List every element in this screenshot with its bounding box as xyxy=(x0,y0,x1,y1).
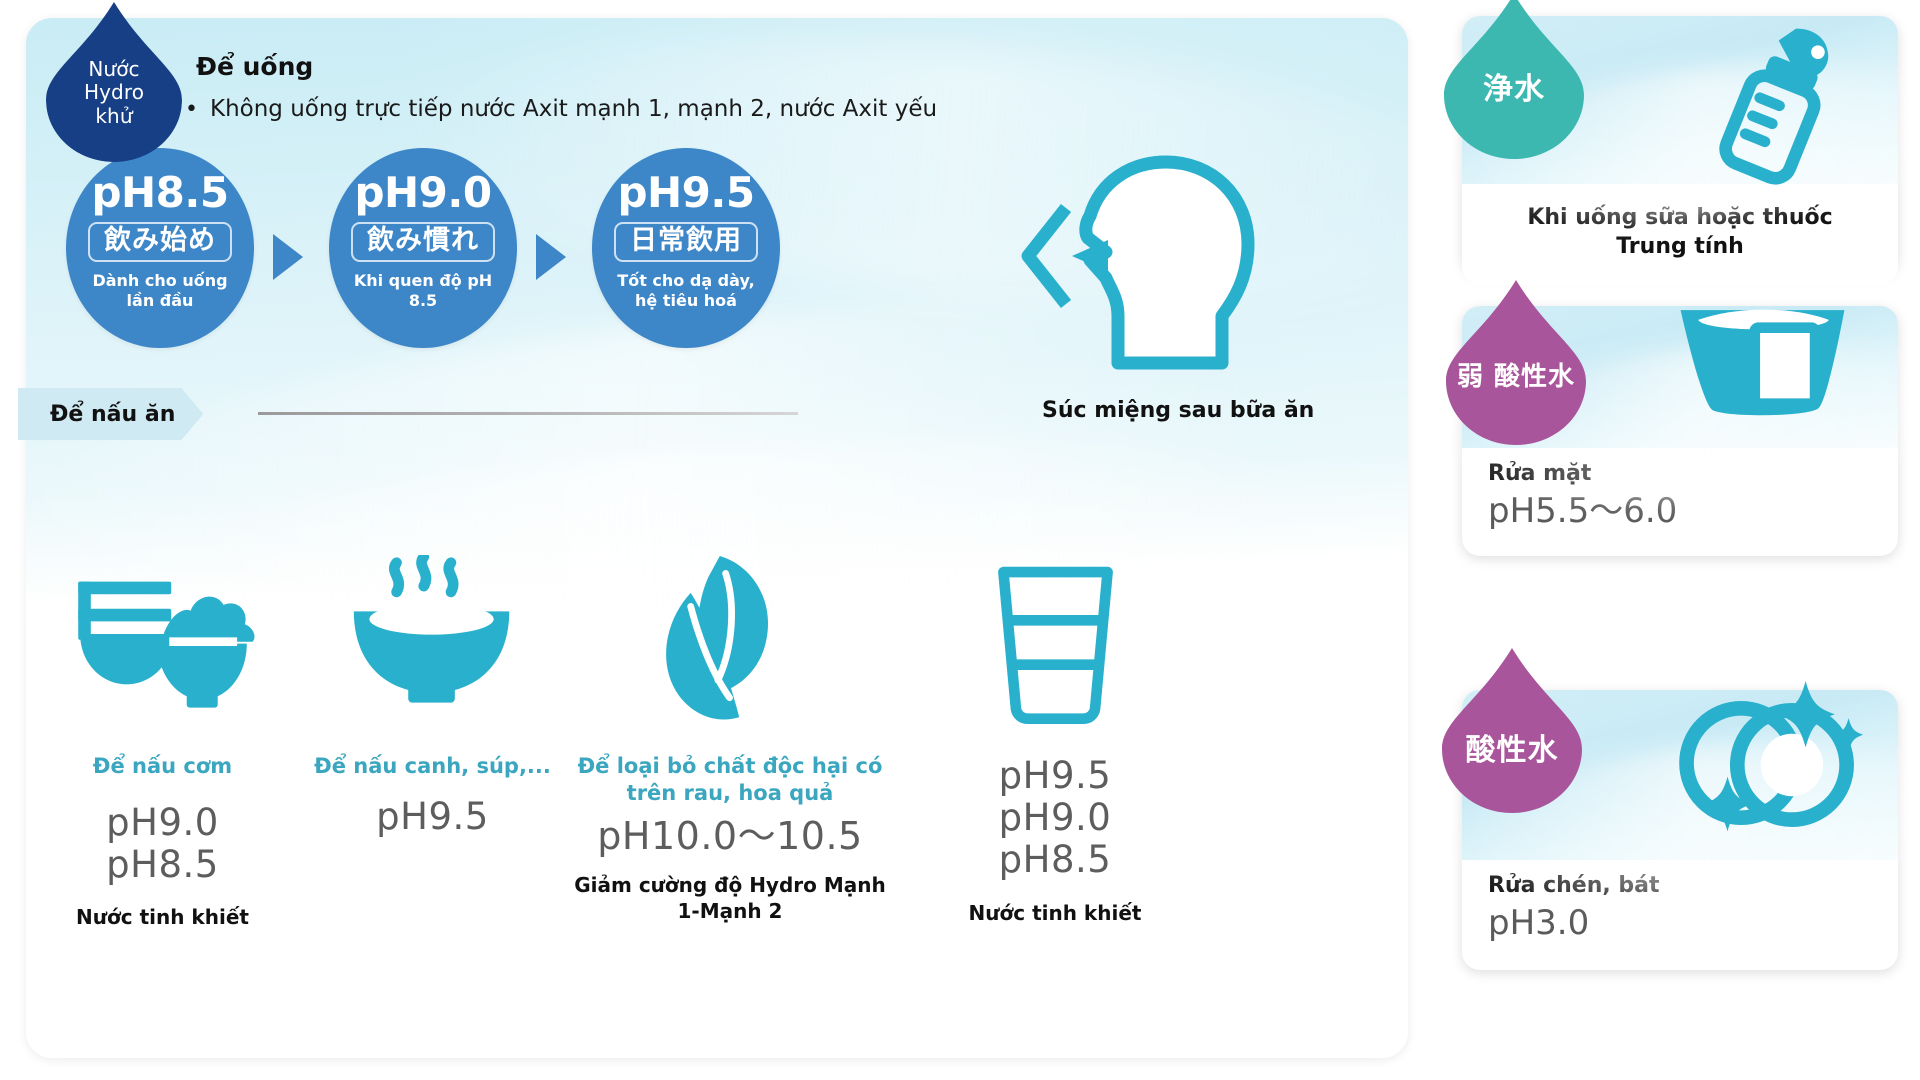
card-drop-label: 弱 酸性水 xyxy=(1457,333,1575,392)
use-label: Để nấu canh, súp,... xyxy=(300,753,565,780)
card-drop-label: 浄水 xyxy=(1483,47,1545,107)
card-artwork: 酸性水 xyxy=(1462,690,1898,860)
ph-step-circle: pH9.5 日常飲用 Tốt cho dạ dày, hệ tiêu hoá xyxy=(592,148,780,348)
ph-sub-label: Tốt cho dạ dày, hệ tiêu hoá xyxy=(606,271,766,311)
drink-section-bullet: • Không uống trực tiếp nước Axit mạnh 1,… xyxy=(185,96,937,125)
use-note: Giảm cường độ Hydro Mạnh 1-Mạnh 2 xyxy=(565,872,895,924)
rinse-mouth-label: Súc miệng sau bữa ăn xyxy=(1042,398,1314,423)
ph-sub-label: Dành cho uống lần đầu xyxy=(80,271,240,311)
wash-basin-towel-icon xyxy=(1665,280,1860,432)
acidic-water-drop-badge: 酸性水 xyxy=(1442,648,1582,813)
ph-step-circle: pH9.0 飲み慣れ Khi quen độ pH 8.5 xyxy=(329,148,517,348)
ph-japanese-label: 日常飲用 xyxy=(614,222,758,262)
use-note: Nước tinh khiết xyxy=(30,904,295,930)
dishes-sparkle-icon xyxy=(1667,674,1872,856)
card-artwork: 弱 酸性水 xyxy=(1462,306,1898,448)
side-card-acidic-water[interactable]: 酸性水 Rửa chén, bát p xyxy=(1462,690,1898,970)
cook-section-tag: Để nấu ăn xyxy=(18,388,203,440)
badge-line-3: khử xyxy=(95,105,132,129)
use-ph-value: pH9.5 pH9.0 pH8.5 xyxy=(905,755,1205,882)
side-card-purified-water[interactable]: 浄水 xyxy=(1462,16,1898,274)
hydro-water-drop-badge: Nước Hydro khử xyxy=(46,2,182,162)
soup-bowl-icon xyxy=(300,525,565,725)
use-column-drinking-water: pH9.5 pH9.0 pH8.5 Nước tinh khiết xyxy=(905,525,1205,926)
vegetable-leaf-icon xyxy=(565,525,895,725)
use-column-soup: Để nấu canh, súp,... pH9.5 xyxy=(300,525,565,852)
badge-line-2: Hydro xyxy=(84,81,144,105)
card-ph: pH3.0 xyxy=(1488,903,1872,944)
ph-japanese-label: 飲み始め xyxy=(88,222,232,262)
use-column-vegetables: Để loại bỏ chất độc hại có trên rau, hoa… xyxy=(565,525,895,924)
use-note: Nước tinh khiết xyxy=(905,900,1205,926)
ph-step-row: pH8.5 飲み始め Dành cho uống lần đầu pH9.0 飲… xyxy=(66,148,846,358)
use-ph-value: pH10.0〜10.5 xyxy=(565,815,895,858)
use-ph-value: pH9.5 xyxy=(300,796,565,838)
drink-bullet-text: Không uống trực tiếp nước Axit mạnh 1, m… xyxy=(210,96,937,125)
ph-japanese-label: 飲み慣れ xyxy=(351,222,495,262)
purified-water-drop-badge: 浄水 xyxy=(1444,0,1584,159)
ph-step-circle: pH8.5 飲み始め Dành cho uống lần đầu xyxy=(66,148,254,348)
water-glass-icon xyxy=(905,525,1205,725)
ph-value: pH9.5 xyxy=(617,172,754,214)
use-label: Để loại bỏ chất độc hại có trên rau, hoa… xyxy=(565,753,895,807)
infographic-root: Nước Hydro khử Để uống • Không uống trực… xyxy=(0,0,1920,1080)
use-label: Để nấu cơm xyxy=(30,753,295,780)
drink-section-title: Để uống xyxy=(196,52,313,81)
card-artwork: 浄水 xyxy=(1462,16,1898,184)
ph-value: pH9.0 xyxy=(354,172,491,214)
hydro-badge-label: Nước Hydro khử xyxy=(46,2,182,162)
ph-value: pH8.5 xyxy=(91,172,228,214)
rice-bowl-icon xyxy=(30,525,295,725)
use-ph-value: pH9.0 pH8.5 xyxy=(30,802,295,886)
use-column-rice: Để nấu cơm pH9.0 pH8.5 Nước tinh khiết xyxy=(30,525,295,930)
rinse-mouth-head-icon xyxy=(1010,148,1280,373)
badge-line-1: Nước xyxy=(88,58,139,82)
arrow-right-icon xyxy=(536,234,566,280)
ph-sub-label: Khi quen độ pH 8.5 xyxy=(343,271,503,311)
card-drop-label: 酸性水 xyxy=(1466,694,1559,768)
side-card-weak-acidic-water[interactable]: 弱 酸性水 Rửa mặt pH5.5〜6.0 xyxy=(1462,306,1898,556)
cooking-uses-grid: Để nấu cơm pH9.0 pH8.5 Nước tinh khiết xyxy=(0,525,1382,1025)
bullet-dot-icon: • xyxy=(185,96,198,125)
arrow-right-icon xyxy=(273,234,303,280)
section-divider xyxy=(258,412,798,415)
weak-acidic-water-drop-badge: 弱 酸性水 xyxy=(1446,280,1586,445)
baby-bottle-icon xyxy=(1704,22,1854,191)
